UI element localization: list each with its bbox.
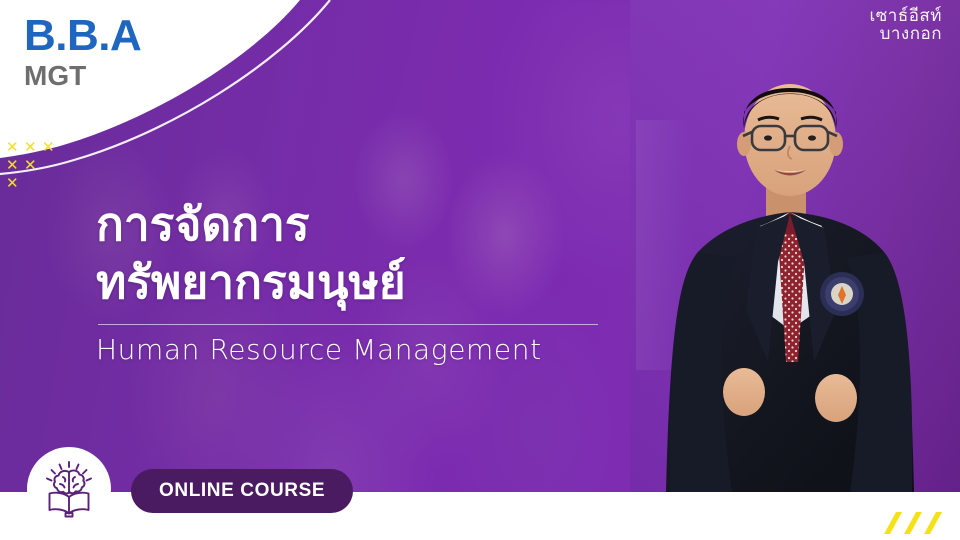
title-divider	[98, 324, 598, 325]
course-title-thai-line-1: การจัดการ	[96, 196, 656, 254]
x-mark-icon: ✕	[6, 178, 17, 189]
x-mark-icon: ✕	[6, 142, 17, 153]
major-code: MGT	[24, 62, 141, 90]
course-title-english: Human Resource Management	[96, 333, 656, 366]
institution-wordmark: เซาธ์อีสท์ บางกอก	[869, 8, 942, 44]
course-title-block: การจัดการ ทรัพยากรมนุษย์ Human Resource …	[96, 196, 656, 366]
studio-backdrop	[630, 0, 960, 492]
brain-on-book-icon	[39, 459, 99, 519]
x-mark-icon: ✕	[42, 142, 53, 153]
brand-lockup: B.B.A MGT	[24, 14, 141, 90]
slashes-decoration	[880, 504, 946, 534]
course-title-thai-line-2: ทรัพยากรมนุษย์	[96, 254, 656, 312]
x-mark-icon: ✕	[6, 160, 17, 171]
program-code: B.B.A	[24, 14, 141, 58]
online-course-pill[interactable]: ONLINE COURSE	[131, 469, 353, 513]
online-course-label: ONLINE COURSE	[159, 480, 325, 502]
x-mark-icon: ✕	[24, 142, 35, 153]
course-banner: B.B.A MGT เซาธ์อีสท์ บางกอก ✕ ✕ ✕ ✕ ✕ ✕ …	[0, 0, 960, 540]
x-mark-icon: ✕	[24, 160, 35, 171]
x-marks-decoration: ✕ ✕ ✕ ✕ ✕ ✕	[4, 142, 64, 200]
wordmark-line-2: บางกอก	[869, 26, 942, 44]
online-learning-badge	[27, 447, 111, 531]
